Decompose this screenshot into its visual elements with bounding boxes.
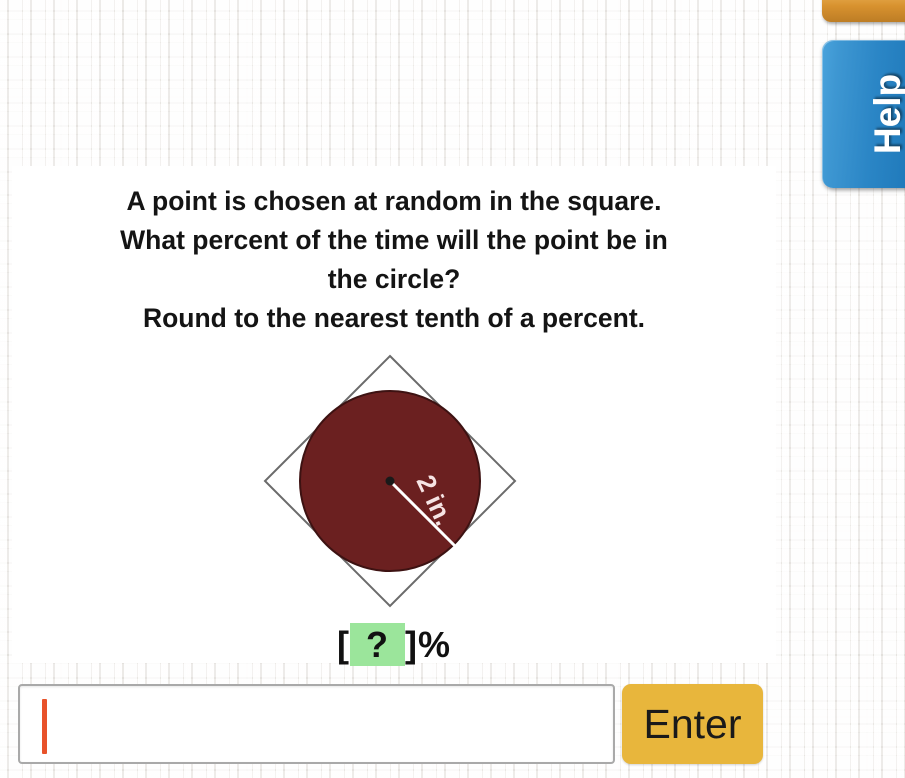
help-tab-button[interactable]: Help [822, 40, 905, 188]
question-line-1: A point is chosen at random in the squar… [34, 182, 754, 221]
question-prompt: A point is chosen at random in the squar… [12, 166, 776, 338]
answer-row: Enter [18, 684, 768, 768]
answer-close-bracket: ] [405, 624, 418, 665]
center-dot [386, 476, 395, 485]
question-line-3: the circle? [34, 260, 754, 299]
answer-question-mark: ? [350, 623, 405, 666]
answer-percent-sign: % [418, 624, 451, 665]
question-card: A point is chosen at random in the squar… [12, 166, 776, 663]
question-line-2: What percent of the time will the point … [34, 221, 754, 260]
enter-button[interactable]: Enter [622, 684, 763, 764]
text-caret [42, 699, 47, 754]
help-tab-label: Help [867, 74, 905, 154]
question-line-4: Round to the nearest tenth of a percent. [34, 299, 754, 338]
answer-open-bracket: [ [337, 624, 350, 665]
answer-input[interactable] [20, 686, 613, 762]
figure-area: 2 in. [12, 344, 776, 614]
answer-input-wrapper[interactable] [18, 684, 615, 764]
circle-in-square-diagram: 2 in. [244, 344, 544, 614]
answer-blank: [?]% [12, 624, 776, 666]
orange-tab[interactable] [822, 0, 905, 22]
